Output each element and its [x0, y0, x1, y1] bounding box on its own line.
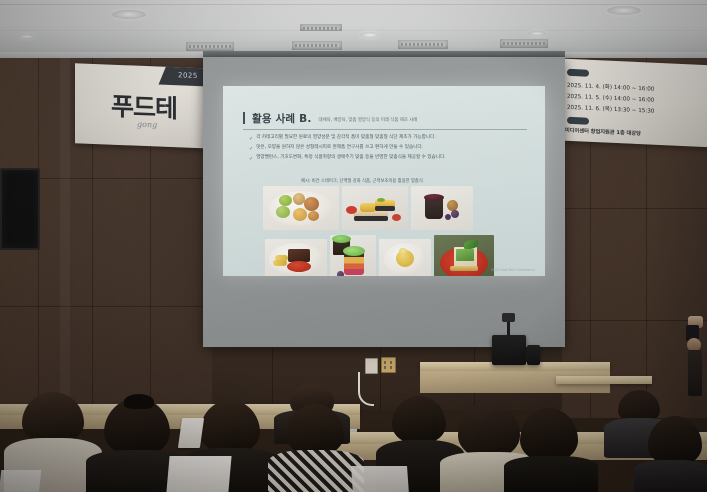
side-desk [556, 376, 652, 384]
banner-right-schedule-2: 2025. 11. 5. (수) 14:00 ~ 16:00 [567, 92, 654, 104]
audience-head [458, 402, 520, 458]
plated-green-dumplings [263, 186, 339, 230]
air-vent [500, 39, 548, 48]
event-banner-right: 2025. 11. 4. (화) 14:00 ~ 16:00 2025. 11.… [563, 59, 707, 148]
banner-right-pill-location [567, 117, 589, 125]
ceiling-downlight [18, 34, 36, 39]
ceiling [0, 0, 707, 58]
wall-display-panel [0, 168, 40, 250]
speaker-unit [527, 345, 540, 365]
list-item: ✓ 영양밸런스, 기호도변화, 특정 식품취향의 생애주기 맞춤 등을 반영한 … [249, 156, 539, 162]
ceiling-downlight [112, 10, 146, 19]
photo-row-1 [263, 186, 513, 230]
matcha-cube-cake [434, 235, 494, 276]
steak-plate-red-sauce [265, 239, 327, 276]
air-vent [186, 42, 234, 51]
air-vent [300, 24, 342, 31]
check-icon: ✓ [249, 156, 253, 162]
air-vent [292, 41, 342, 50]
bullet-text: 각 카테고리별 필요한 원료의 영양성분 및 감각적 품미 맞춤형 맞춤형 식단… [256, 136, 436, 141]
laptop [0, 470, 41, 492]
audience-body [634, 460, 707, 492]
lecture-hall-photo: 2025 푸드테 gong 2025. 11. 4. (화) 14:00 ~ 1… [0, 0, 707, 492]
food-photo-grid [263, 186, 513, 276]
photo-row-2 [263, 235, 513, 276]
slide-bullet-list: ✓ 각 카테고리별 필요한 원료의 영양성분 및 감각적 품미 맞춤형 맞춤형 … [249, 136, 539, 166]
power-cable [358, 372, 374, 406]
power-outlet-brass [381, 357, 396, 373]
audience-body [268, 450, 364, 492]
bullet-text: 영양밸런스, 기호도변화, 특정 식품취향의 생애주기 맞춤 등을 반영한 맞춤… [256, 156, 446, 161]
slide-title: 활용 사례 B. [252, 114, 312, 125]
presentation-slide: 활용 사례 B. 대체육, 배양육, 맞춤 영양식 등의 미래 식품 제조 사례… [223, 86, 545, 276]
coffee-cup-dessert [411, 186, 473, 230]
banner-left-script: gong [137, 120, 157, 130]
check-icon: ✓ [249, 146, 253, 152]
laptop-paper [178, 418, 204, 448]
ceiling-downlight [607, 6, 641, 15]
audience-head [648, 416, 702, 466]
title-divider [243, 129, 527, 130]
banner-right-schedule-3: 2025. 11. 6. (목) 13:30 ~ 15:30 [567, 103, 654, 115]
projector-unit [492, 335, 526, 365]
yellow-puree-plate [379, 239, 431, 276]
list-item: ✓ 각 카테고리별 필요한 원료의 영양성분 및 감각적 품미 맞춤형 맞춤형 … [249, 136, 539, 142]
slide-footer: 2025 Food Tech Conference [491, 268, 535, 272]
ceiling-downlight [528, 31, 546, 36]
check-icon: ✓ [249, 136, 253, 142]
hair-tie [124, 394, 154, 409]
air-vent [398, 40, 448, 49]
banner-right-location: 미디어센터 창업지원관 1층 대강당 [565, 127, 641, 137]
laptop [166, 456, 231, 492]
projector-head [502, 313, 515, 322]
slide-subtitle: 대체육, 배양육, 맞춤 영양식 등의 미래 식품 제조 사례 [319, 117, 418, 124]
image-caption: 예시: 비건 스테이크, 단백질 강화 식품, 근력보조이용 활용한 맞춤식 [301, 178, 423, 184]
projector-neck [507, 320, 510, 336]
banner-right-pill-schedule [567, 69, 589, 77]
bullet-text: 맛은, 모양을 원하지 않은 성형레시피로 완제품 연구사를 쓰고 편하게 만들… [256, 146, 423, 151]
ceiling-downlight [360, 32, 380, 38]
list-item: ✓ 맛은, 모양을 원하지 않은 성형레시피로 완제품 연구사를 쓰고 편하게 … [249, 146, 539, 152]
audience-body [504, 456, 598, 492]
banner-right-schedule-1: 2025. 11. 4. (화) 14:00 ~ 16:00 [567, 81, 654, 93]
projection-screen: 활용 사례 B. 대체육, 배양육, 맞춤 영양식 등의 미래 식품 제조 사례… [203, 57, 565, 347]
event-banner-left: 2025 푸드테 gong [75, 63, 215, 148]
layered-parfait-cups [330, 235, 376, 276]
laptop [351, 466, 409, 492]
slide-title-row: 활용 사례 B. 대체육, 배양육, 맞춤 영양식 등의 미래 식품 제조 사례 [243, 112, 417, 124]
open-sandwich-set [342, 186, 408, 230]
title-accent-bar [243, 112, 245, 124]
phone-camera-raised [684, 316, 706, 396]
banner-left-year: 2025 [178, 71, 198, 80]
